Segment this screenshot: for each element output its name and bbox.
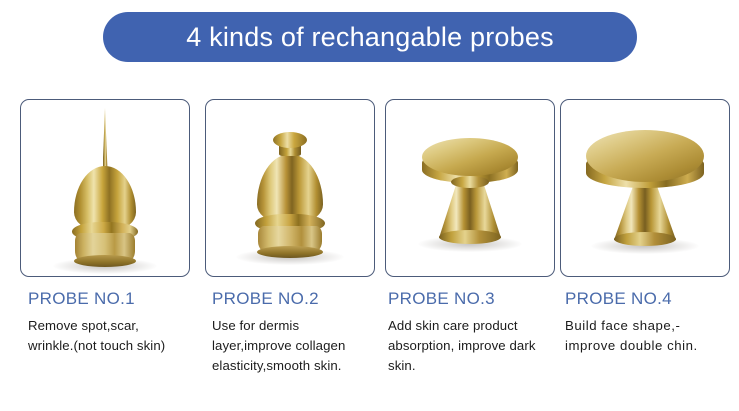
probe-4-title: PROBE NO.4 xyxy=(565,288,739,310)
probe-card-row xyxy=(0,99,739,277)
probe-3-title: PROBE NO.3 xyxy=(388,288,564,310)
probe-image-card-2[interactable] xyxy=(205,99,375,277)
probe-1-title: PROBE NO.1 xyxy=(28,288,204,310)
header-banner: 4 kinds of rechangable probes xyxy=(103,12,637,62)
probe-3-foot-ring xyxy=(439,230,501,244)
probe-caption-row: PROBE NO.1 Remove spot,scar, wrinkle.(no… xyxy=(0,288,739,408)
probe-2-knob xyxy=(273,132,307,148)
probe-1-cone-body xyxy=(74,166,136,230)
probe-4-description: Build face shape,-improve double chin. xyxy=(565,316,725,356)
probe-3-description: Add skin care product absorption, improv… xyxy=(388,316,548,376)
probe-caption-1: PROBE NO.1 Remove spot,scar, wrinkle.(no… xyxy=(28,288,204,356)
probe-caption-4: PROBE NO.4 Build face shape,-improve dou… xyxy=(565,288,739,356)
probe-image-card-4[interactable] xyxy=(560,99,730,277)
probe-2-illustration xyxy=(206,100,374,276)
probe-4-illustration xyxy=(561,100,729,276)
probe-1-illustration xyxy=(21,100,189,276)
probe-3-illustration xyxy=(386,100,554,276)
probe-2-title: PROBE NO.2 xyxy=(212,288,388,310)
probe-1-description: Remove spot,scar, wrinkle.(not touch ski… xyxy=(28,316,188,356)
probe-4-flat-disc-top xyxy=(586,130,704,182)
probe-3-collar xyxy=(451,176,489,188)
probe-image-card-1[interactable] xyxy=(20,99,190,277)
probe-image-card-3[interactable] xyxy=(385,99,555,277)
banner-title: 4 kinds of rechangable probes xyxy=(186,22,554,53)
probe-1-foot-ring xyxy=(74,255,136,267)
probe-overview-page: 4 kinds of rechangable probes xyxy=(0,0,739,411)
probe-4-foot-ring xyxy=(614,232,676,246)
probe-3-flat-top xyxy=(422,138,518,176)
probe-2-description: Use for dermis layer,improve collagen el… xyxy=(212,316,372,376)
probe-caption-2: PROBE NO.2 Use for dermis layer,improve … xyxy=(212,288,388,376)
probe-caption-3: PROBE NO.3 Add skin care product absorpt… xyxy=(388,288,564,376)
probe-2-bell-body xyxy=(257,154,323,222)
probe-2-foot-ring xyxy=(257,246,323,258)
